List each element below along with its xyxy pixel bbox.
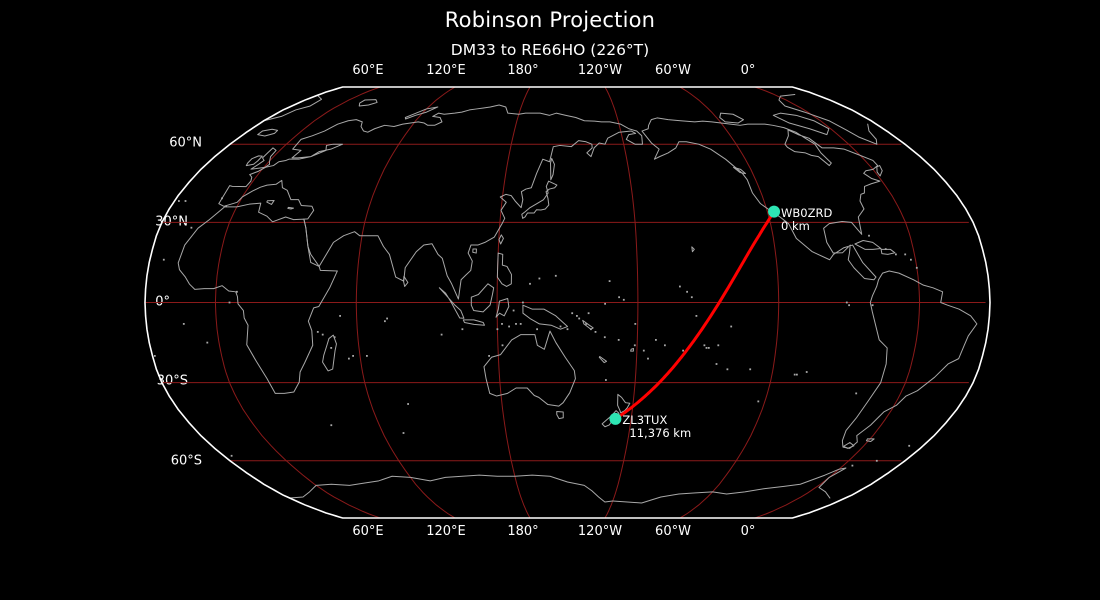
station-marker-wb0zrd[interactable]: [768, 206, 780, 218]
station-distance-wb0zrd: 0 km: [781, 220, 832, 233]
graticule-grid: [145, 87, 985, 518]
station-marker-zl3tux[interactable]: [609, 413, 621, 425]
station-callsign-wb0zrd: WB0ZRD: [781, 207, 832, 220]
station-callsign-zl3tux: ZL3TUX: [622, 414, 691, 427]
coastlines: [154, 95, 977, 503]
world-map-canvas: [0, 0, 1100, 600]
station-label-zl3tux: ZL3TUX 11,376 km: [622, 414, 691, 440]
map-figure: Robinson Projection DM33 to RE66HO (226°…: [0, 0, 1100, 600]
station-label-wb0zrd: WB0ZRD 0 km: [781, 207, 832, 233]
great-circle-path: [615, 212, 774, 419]
station-distance-zl3tux: 11,376 km: [629, 427, 691, 440]
